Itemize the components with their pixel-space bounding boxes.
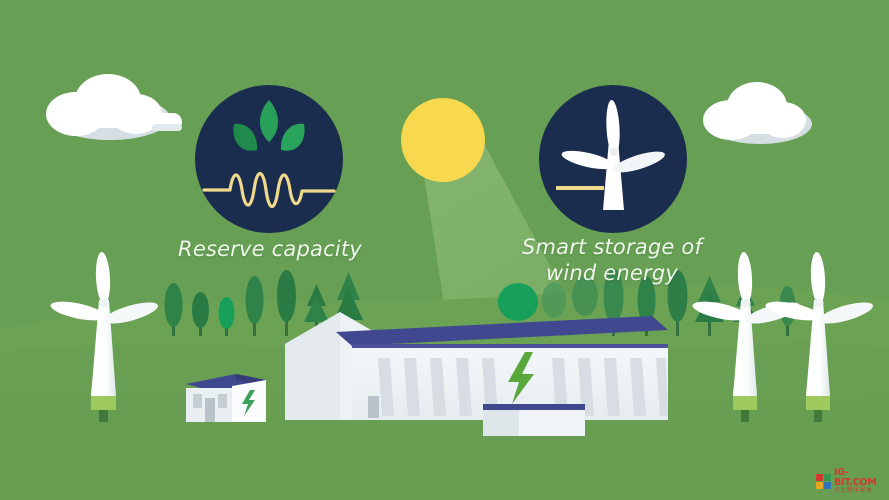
- watermark-domain: IG-BIT.COM: [834, 468, 886, 487]
- tree-bright-round: [498, 283, 538, 321]
- sun: [401, 98, 485, 182]
- tree-oval-soft: [542, 282, 566, 318]
- badge-label-smart-storage: Smart storage of wind energy: [512, 234, 712, 287]
- turbine-hub: [742, 299, 751, 308]
- background-layer: [0, 0, 889, 500]
- illustration-scene: Reserve capacity Smart storage of wind e…: [0, 0, 889, 500]
- badge-reserve-capacity[interactable]: [195, 85, 343, 233]
- storage-warehouse: [285, 312, 668, 436]
- watermark-text: IG-BIT.COM 光比特半导体: [834, 468, 886, 494]
- badge-smart-storage[interactable]: [539, 85, 687, 233]
- cloud-small-left: [152, 113, 182, 131]
- small-house-window-left: [193, 394, 202, 408]
- small-house-door: [205, 398, 215, 422]
- turbine-foot: [99, 408, 108, 422]
- turbine-foot: [814, 408, 822, 422]
- warehouse-door: [368, 396, 379, 418]
- turbine-hub: [610, 148, 618, 156]
- turbine-hub: [100, 299, 109, 308]
- loading-platform: [483, 404, 585, 436]
- watermark-subtitle: 光比特半导体: [834, 488, 886, 494]
- ig-bit-watermark: IG-BIT.COM 光比特半导体: [816, 468, 886, 494]
- small-house-window-right: [218, 394, 227, 408]
- turbine-hub: [815, 299, 824, 308]
- badge-label-reserve-capacity: Reserve capacity: [170, 236, 370, 262]
- watermark-logo-icon: [816, 473, 832, 490]
- baseline-marker: [556, 186, 604, 190]
- turbine-foot: [741, 408, 749, 422]
